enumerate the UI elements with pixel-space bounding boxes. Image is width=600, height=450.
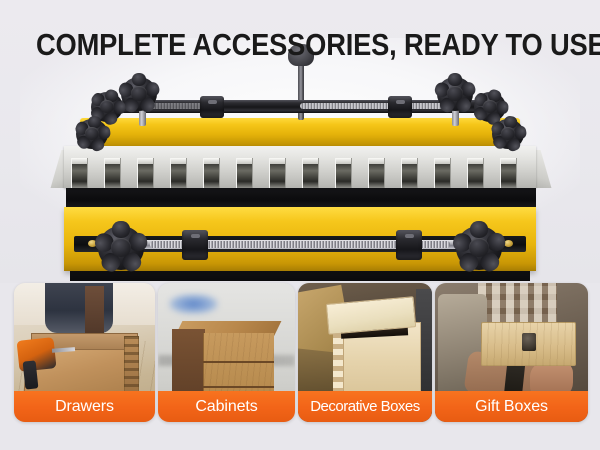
- upper-threaded-rod-right: [300, 103, 452, 109]
- comb-tooth: [467, 158, 484, 188]
- comb-tooth: [302, 158, 319, 188]
- application-gallery: Drawers Cabinets Decorative Boxes: [0, 283, 600, 450]
- comb-tooth: [335, 158, 352, 188]
- finger-joint-comb: [64, 158, 536, 188]
- clamp-knob-bottom-left[interactable]: [98, 226, 144, 270]
- page-title: COMPLETE ACCESSORIES, READY TO USE: [36, 28, 564, 62]
- comb-tooth: [137, 158, 154, 188]
- clamp-knob-top-left-front[interactable]: [76, 119, 108, 149]
- clamp-knob-top-right-rear[interactable]: [437, 77, 473, 111]
- lower-collar-right: [396, 230, 422, 260]
- panel-cabinets[interactable]: Cabinets: [158, 283, 295, 422]
- guide-collar-left: [200, 96, 224, 118]
- clamp-knob-top-right-front[interactable]: [492, 119, 524, 149]
- panel-caption: Gift Boxes: [435, 391, 588, 422]
- lower-collar-left: [182, 230, 208, 260]
- clamp-knob-top-left-rear[interactable]: [121, 77, 157, 111]
- comb-tooth: [401, 158, 418, 188]
- comb-tooth: [368, 158, 385, 188]
- panel-caption: Drawers: [14, 391, 155, 422]
- clamp-knob-top-right-mid[interactable]: [474, 92, 506, 122]
- comb-tooth: [104, 158, 121, 188]
- panel-gift-boxes[interactable]: Gift Boxes: [435, 283, 588, 422]
- panel-drawers[interactable]: Drawers: [14, 283, 155, 422]
- comb-tooth: [71, 158, 88, 188]
- comb-tooth: [236, 158, 253, 188]
- panel-caption: Decorative Boxes: [298, 391, 432, 422]
- comb-tooth: [434, 158, 451, 188]
- comb-tooth: [170, 158, 187, 188]
- comb-tooth: [500, 158, 517, 188]
- panel-decorative-boxes[interactable]: Decorative Boxes: [298, 283, 432, 422]
- panel-caption: Cabinets: [158, 391, 295, 422]
- guide-collar-right: [388, 96, 412, 118]
- comb-tooth: [269, 158, 286, 188]
- clamp-knob-bottom-right[interactable]: [456, 226, 502, 270]
- comb-tooth: [203, 158, 220, 188]
